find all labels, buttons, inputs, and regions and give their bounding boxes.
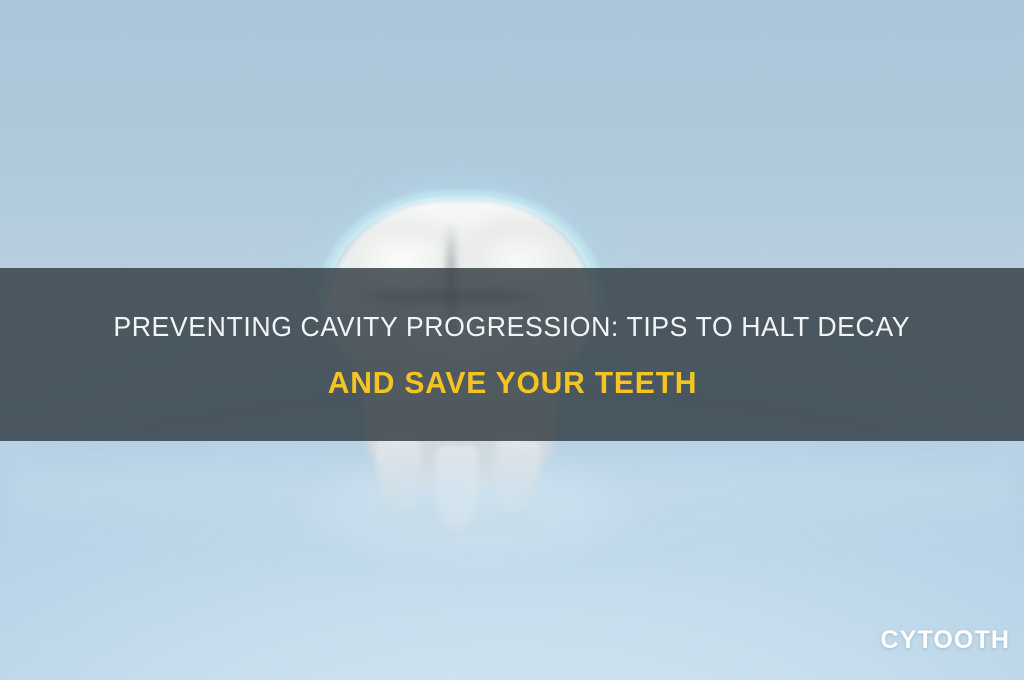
- surface-mist: [270, 455, 670, 575]
- headline-secondary: AND SAVE YOUR TEETH: [327, 367, 697, 398]
- image-canvas: PREVENTING CAVITY PROGRESSION: TIPS TO H…: [0, 0, 1024, 680]
- headline-primary: PREVENTING CAVITY PROGRESSION: TIPS TO H…: [114, 313, 911, 341]
- brand-watermark: CYTOOTH: [881, 628, 1010, 653]
- caption-overlay-band: PREVENTING CAVITY PROGRESSION: TIPS TO H…: [0, 268, 1024, 441]
